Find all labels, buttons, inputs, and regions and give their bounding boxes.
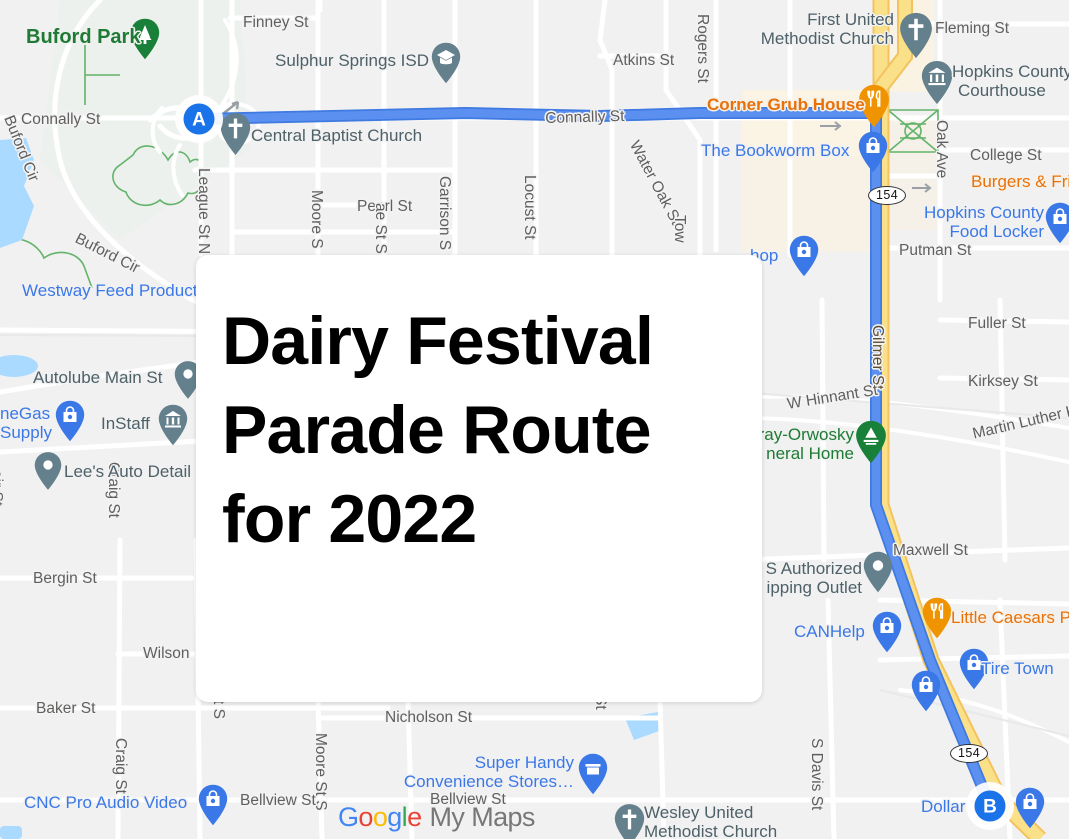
title-line-1: Dairy Festival [222, 303, 653, 379]
logo-letter-o1: o [358, 804, 372, 831]
title-card: Dairy Festival Parade Route for 2022 [196, 255, 762, 702]
highway-shield-154-north: 154 [868, 186, 906, 205]
logo-letter-g: G [338, 804, 358, 831]
logo-letter-e: e [407, 804, 421, 831]
google-my-maps-logo[interactable]: GoogleMy Maps [338, 804, 535, 831]
title-line-2: Parade Route [222, 392, 651, 468]
logo-letter-g2: g [387, 804, 401, 831]
title-line-3: for 2022 [222, 481, 476, 557]
highway-shield-154-south: 154 [950, 744, 988, 763]
logo-letter-o2: o [373, 804, 387, 831]
my-maps-wordmark: My Maps [430, 804, 535, 831]
map-canvas[interactable]: .blk { fill:#f1f1f2; } .rd { stroke:#fff… [0, 0, 1069, 839]
page-title: Dairy Festival Parade Route for 2022 [222, 297, 728, 564]
